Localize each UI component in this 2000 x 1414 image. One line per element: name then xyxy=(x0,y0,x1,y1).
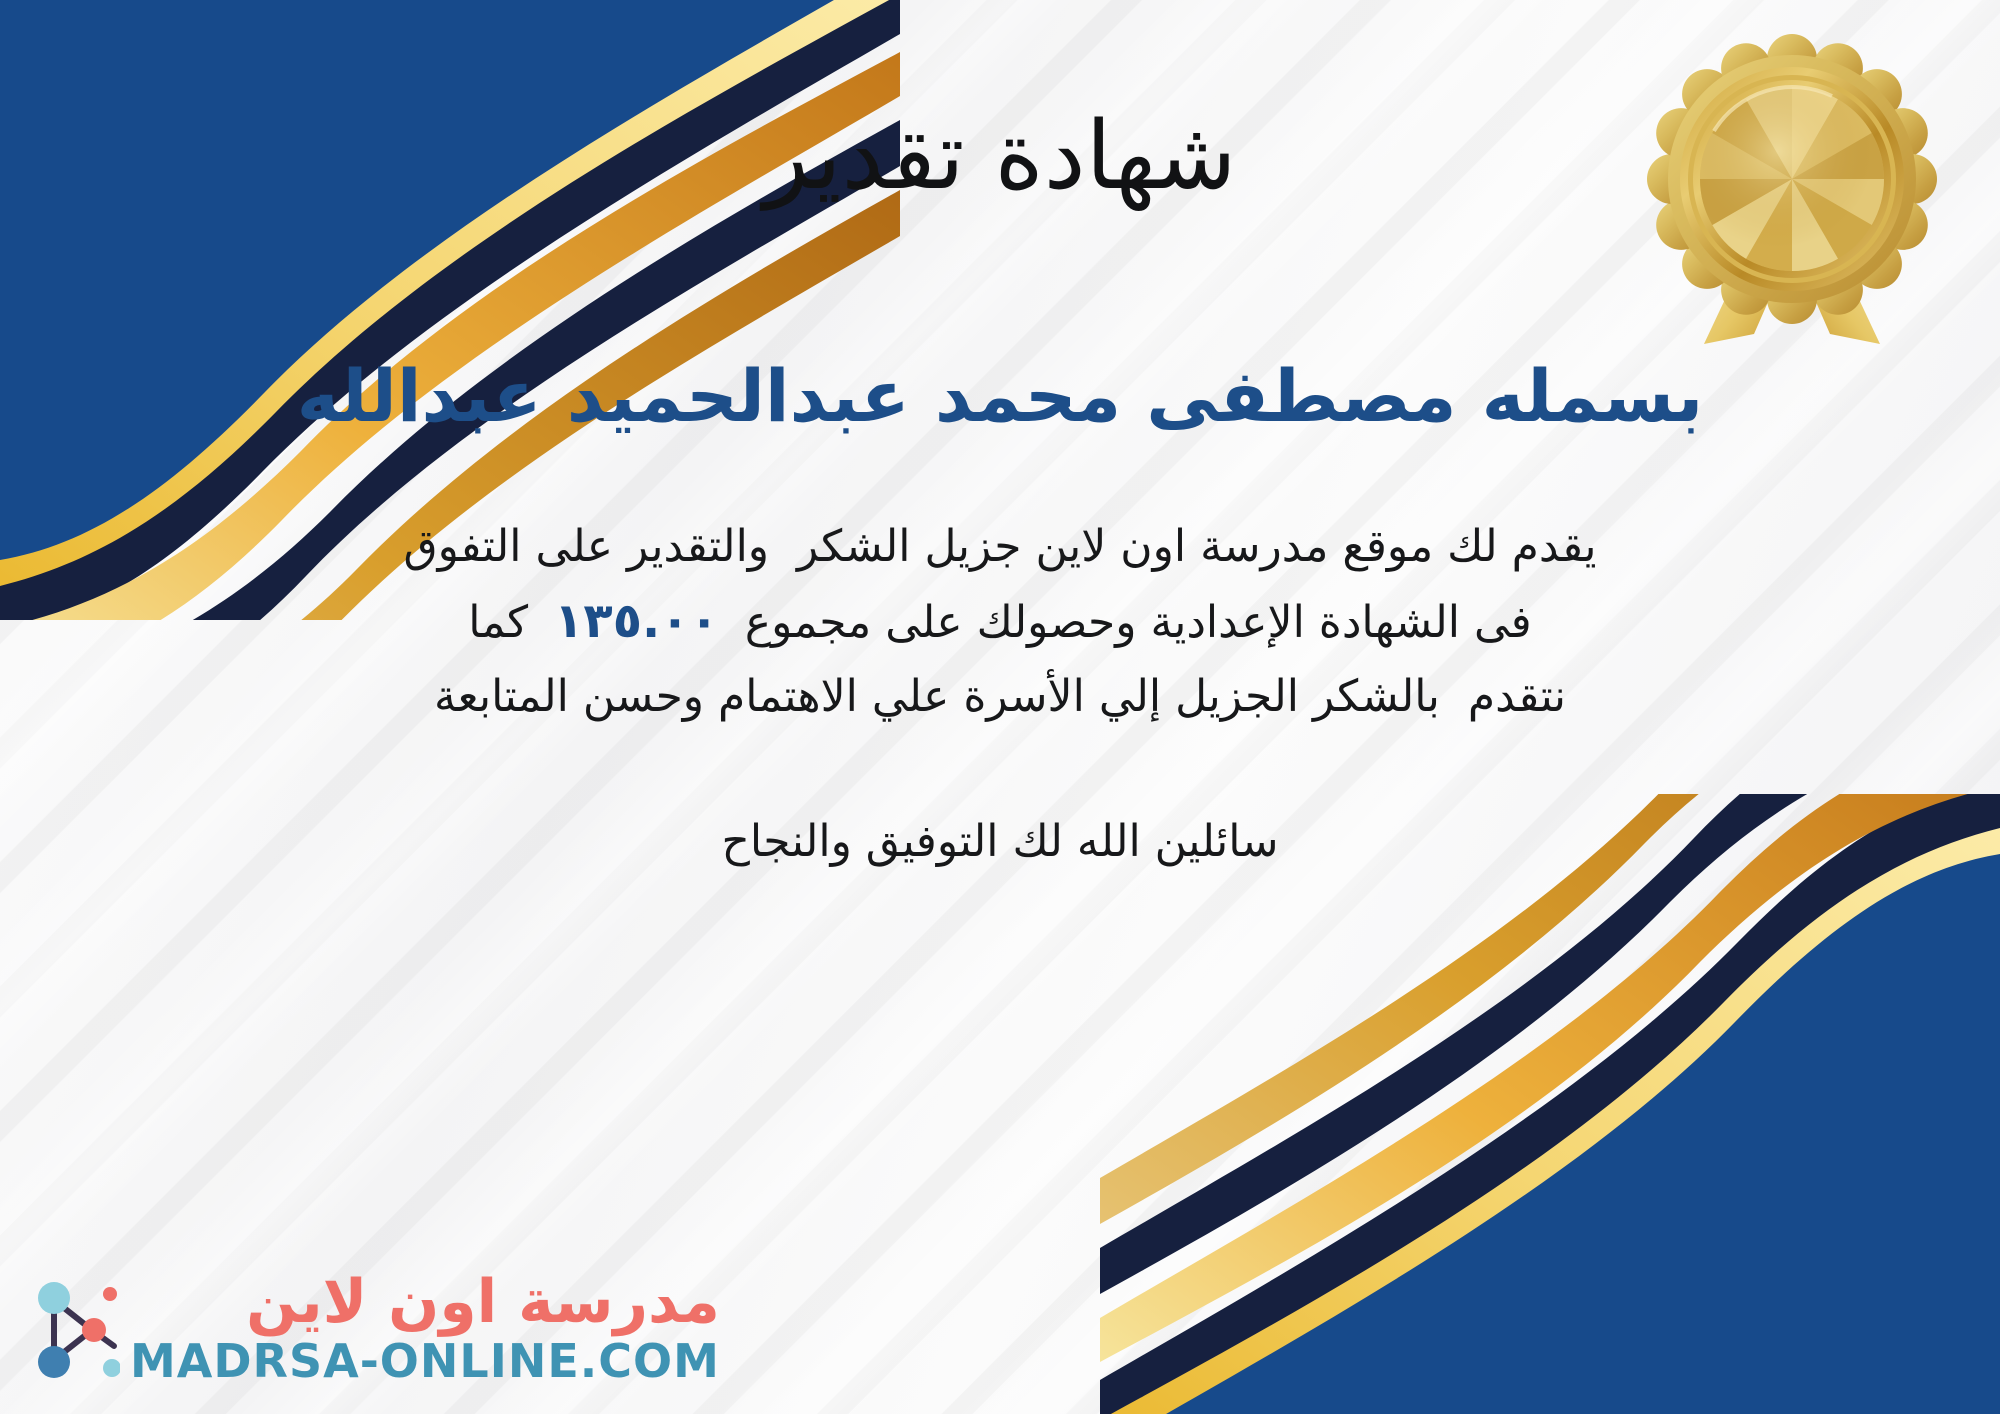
body-line-2-prefix: فى الشهادة الإعدادية وحصولك على مجموع xyxy=(745,597,1532,648)
brand-logo[interactable]: مدرسة اون لاين MADRSA-ONLINE.COM xyxy=(24,1272,720,1384)
recipient-name: بسمله مصطفى محمد عبدالحميد عبدالله xyxy=(297,355,1704,438)
body-line-2-suffix: كما xyxy=(468,597,528,648)
score-value: ١٣٥.٠٠ xyxy=(528,593,745,649)
brand-website[interactable]: MADRSA-ONLINE.COM xyxy=(130,1338,720,1384)
brand-text: مدرسة اون لاين MADRSA-ONLINE.COM xyxy=(130,1272,720,1384)
closing-line: سائلين الله لك التوفيق والنجاح xyxy=(721,816,1278,867)
brand-arabic-name: مدرسة اون لاين xyxy=(246,1272,720,1332)
certificate-canvas: شهادة تقدير بسمله مصطفى محمد عبدالحميد ع… xyxy=(0,0,2000,1414)
page-title: شهادة تقدير xyxy=(764,108,1237,207)
body-line-1: يقدم لك موقع مدرسة اون لاين جزيل الشكر و… xyxy=(260,511,1740,582)
body-line-2: فى الشهادة الإعدادية وحصولك على مجموع١٣٥… xyxy=(260,583,1740,661)
body-line-3: نتقدم بالشكر الجزيل إلي الأسرة علي الاهت… xyxy=(260,661,1740,732)
network-nodes-icon xyxy=(24,1276,120,1380)
certificate-content: شهادة تقدير بسمله مصطفى محمد عبدالحميد ع… xyxy=(0,0,2000,1414)
certificate-body: يقدم لك موقع مدرسة اون لاين جزيل الشكر و… xyxy=(260,511,1740,731)
